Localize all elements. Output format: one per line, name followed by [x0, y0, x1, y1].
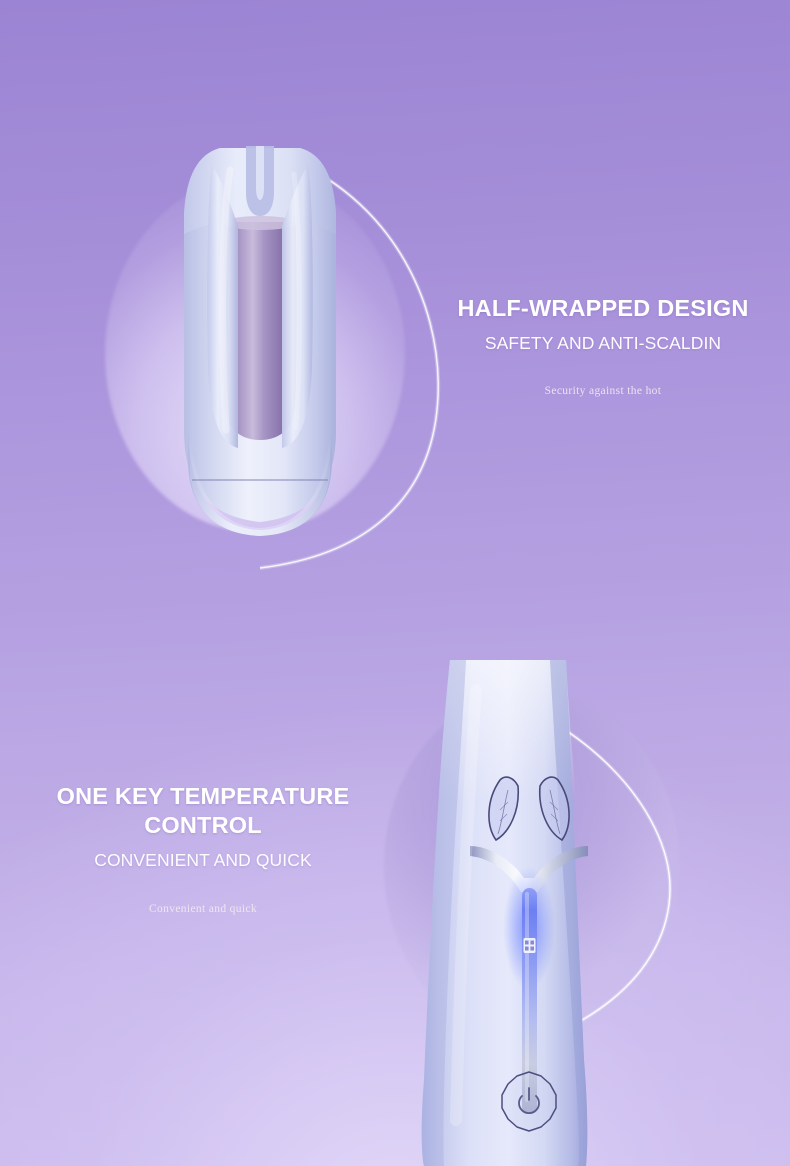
headline-half-wrapped-design: HALF-WRAPPED DESIGN — [432, 294, 774, 323]
feature-copy-one-key-temperature-control: ONE KEY TEMPERATURE CONTROL CONVENIENT A… — [18, 782, 388, 917]
subhead-half-wrapped-design: SAFETY AND ANTI-SCALDIN — [432, 332, 774, 354]
product-feature-page: HALF-WRAPPED DESIGN SAFETY AND ANTI-SCAL… — [0, 0, 790, 1166]
product-image-barrel-head — [110, 130, 410, 550]
product-image-handle — [380, 660, 680, 1166]
headline-one-key-temperature-control: ONE KEY TEMPERATURE CONTROL — [18, 782, 388, 840]
subhead-one-key-temperature-control: CONVENIENT AND QUICK — [18, 849, 388, 871]
caption-half-wrapped-design: Security against the hot — [432, 384, 774, 399]
led-temperature-display — [524, 938, 536, 953]
feature-section-one-key-temperature-control: ONE KEY TEMPERATURE CONTROL CONVENIENT A… — [0, 600, 790, 1166]
feature-section-half-wrapped-design: HALF-WRAPPED DESIGN SAFETY AND ANTI-SCAL… — [0, 0, 790, 600]
feature-copy-half-wrapped-design: HALF-WRAPPED DESIGN SAFETY AND ANTI-SCAL… — [432, 294, 774, 399]
strip-highlight — [525, 892, 529, 1102]
caption-one-key-temperature-control: Convenient and quick — [18, 902, 388, 917]
barrel-center-slot-highlight — [256, 146, 264, 200]
